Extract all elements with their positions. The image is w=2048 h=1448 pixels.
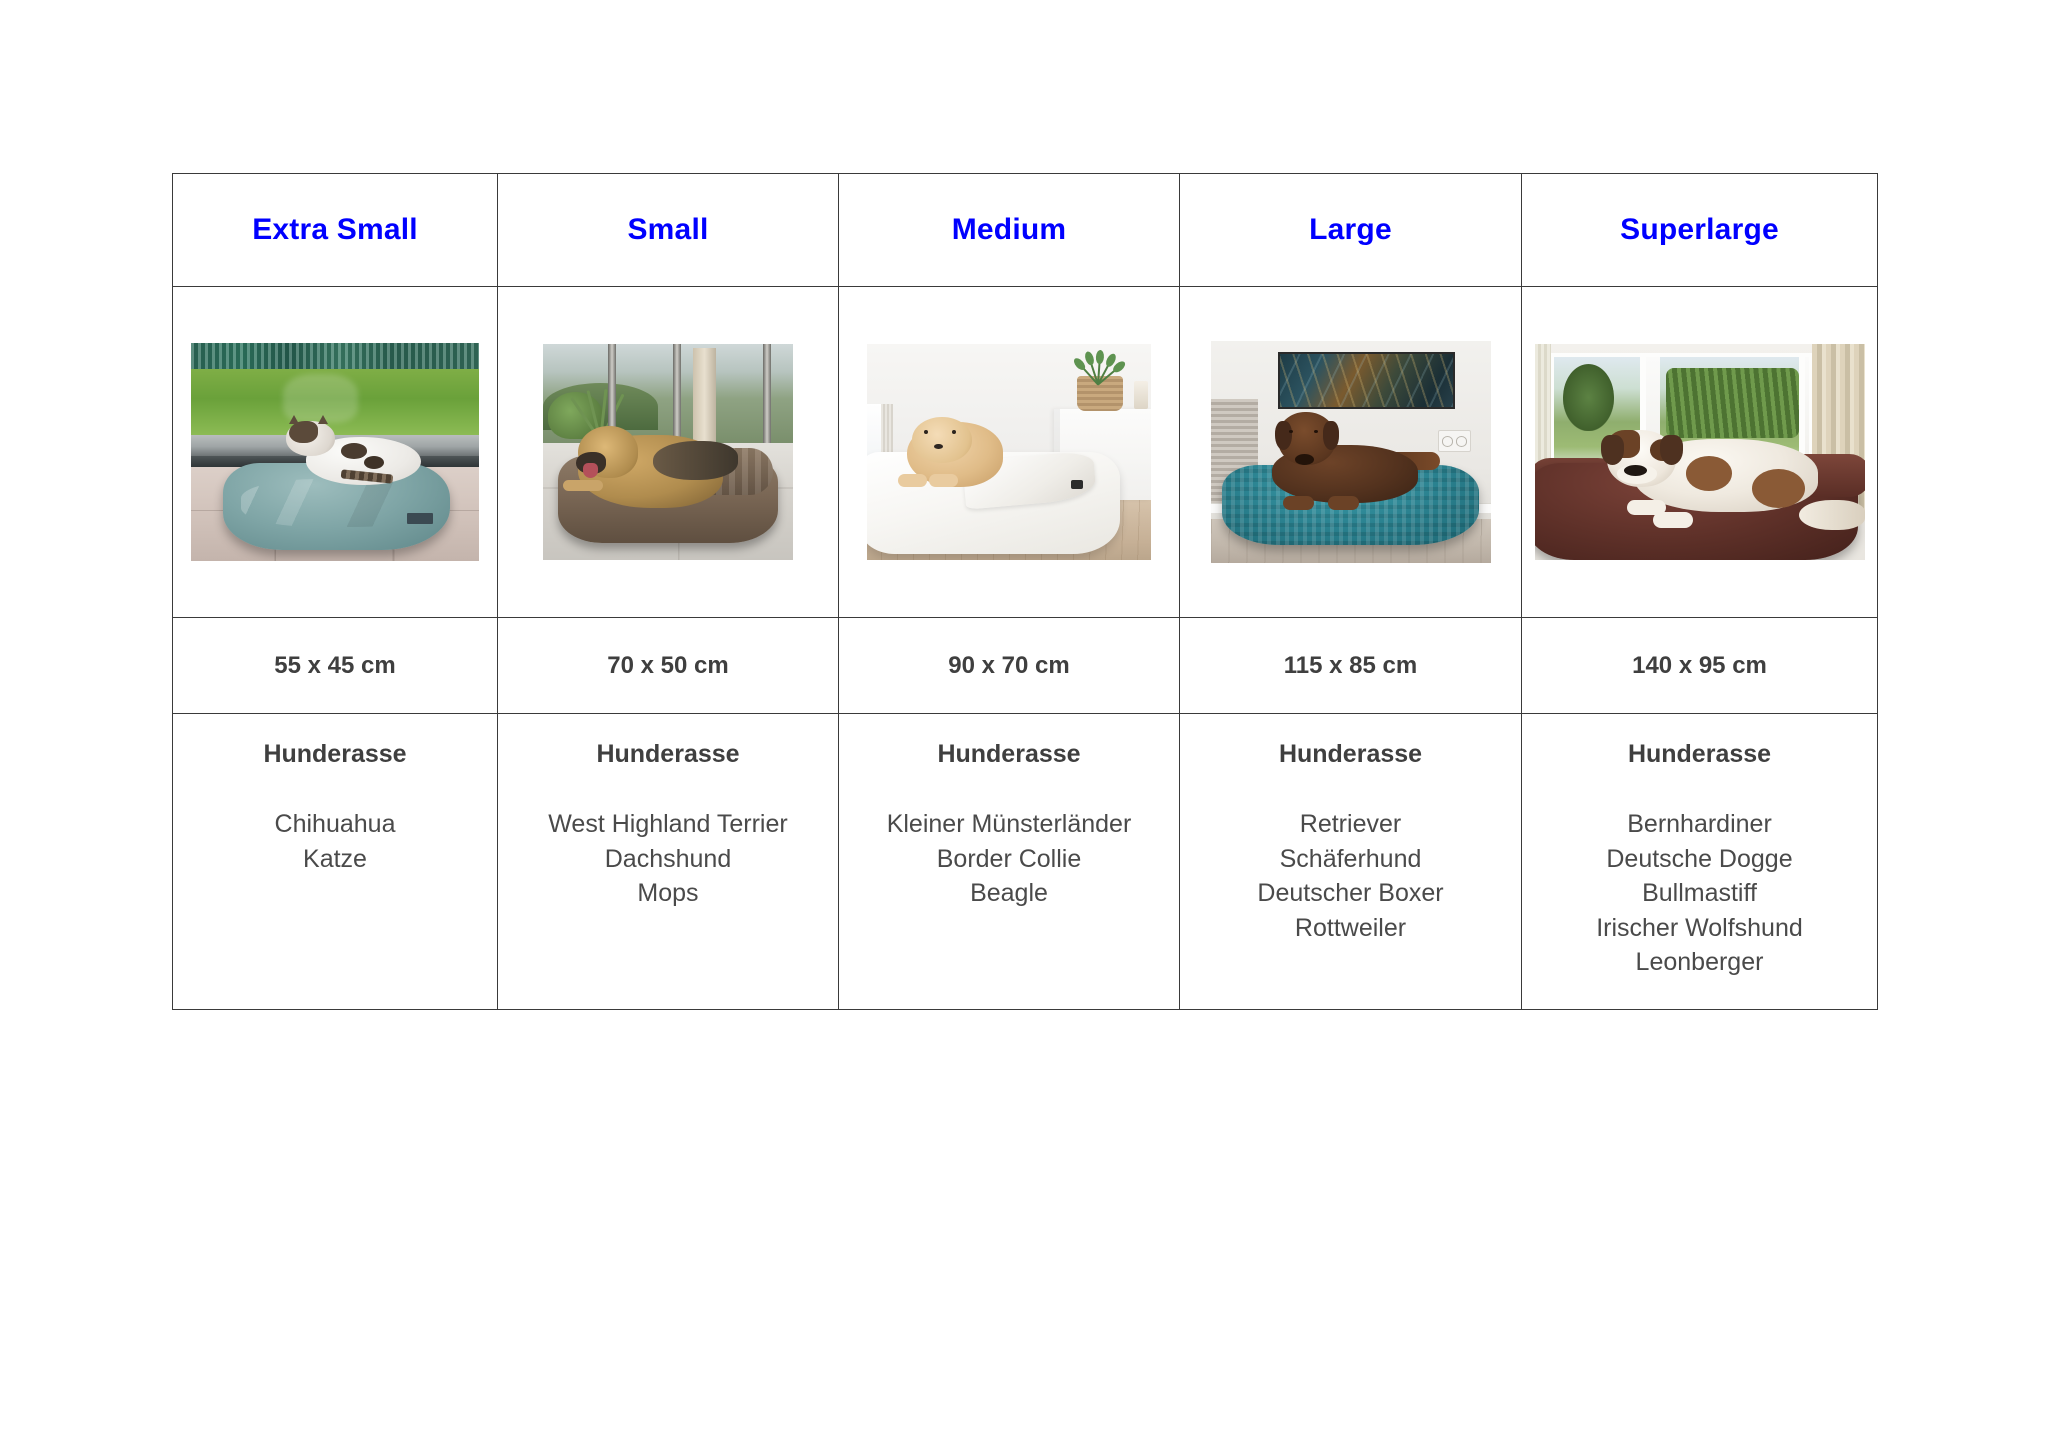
photo-cell-medium [839, 287, 1180, 618]
breed-title-superlarge: Hunderasse [1522, 740, 1877, 769]
breed-title-medium: Hunderasse [839, 740, 1179, 769]
breed-item: Leonberger [1522, 945, 1877, 980]
breed-list-small: West Highland Terrier Dachshund Mops [498, 807, 838, 911]
breed-item: Irischer Wolfshund [1522, 911, 1877, 946]
breed-list-superlarge: Bernhardiner Deutsche Dogge Bullmastiff … [1522, 807, 1877, 980]
header-label-large: Large [1180, 215, 1521, 245]
breed-cell-extra-small: Hunderasse Chihuahua Katze [173, 714, 498, 1010]
size-value-small: 70 x 50 cm [498, 652, 838, 680]
table-size-row: 55 x 45 cm 70 x 50 cm 90 x 70 cm 115 x 8… [173, 618, 1878, 714]
header-cell-superlarge: Superlarge [1522, 174, 1878, 287]
breed-item: Mops [498, 876, 838, 911]
breed-list-medium: Kleiner Münsterländer Border Collie Beag… [839, 807, 1179, 911]
breed-item: Retriever [1180, 807, 1521, 842]
size-value-extra-small: 55 x 45 cm [173, 652, 497, 680]
header-label-extra-small: Extra Small [173, 215, 497, 245]
table-breed-row: Hunderasse Chihuahua Katze Hunderasse We… [173, 714, 1878, 1010]
breed-item: Beagle [839, 876, 1179, 911]
header-cell-large: Large [1180, 174, 1522, 287]
breed-cell-medium: Hunderasse Kleiner Münsterländer Border … [839, 714, 1180, 1010]
photo-cell-superlarge [1522, 287, 1878, 618]
breed-item: Bernhardiner [1522, 807, 1877, 842]
header-label-small: Small [498, 215, 838, 245]
breed-list-large: Retriever Schäferhund Deutscher Boxer Ro… [1180, 807, 1521, 945]
photo-cell-small [498, 287, 839, 618]
breed-cell-small: Hunderasse West Highland Terrier Dachshu… [498, 714, 839, 1010]
table-header-row: Extra Small Small Medium Large Superlarg… [173, 174, 1878, 287]
breed-item: Dachshund [498, 842, 838, 877]
breed-title-small: Hunderasse [498, 740, 838, 769]
page-canvas: Extra Small Small Medium Large Superlarg… [0, 0, 2048, 1448]
breed-item: Chihuahua [173, 807, 497, 842]
size-cell-large: 115 x 85 cm [1180, 618, 1522, 714]
breed-cell-large: Hunderasse Retriever Schäferhund Deutsch… [1180, 714, 1522, 1010]
product-photo-superlarge [1535, 344, 1865, 560]
product-photo-large [1211, 341, 1491, 563]
breed-item: Deutsche Dogge [1522, 842, 1877, 877]
header-label-medium: Medium [839, 215, 1179, 245]
product-photo-small [543, 344, 793, 560]
breed-title-large: Hunderasse [1180, 740, 1521, 769]
size-cell-extra-small: 55 x 45 cm [173, 618, 498, 714]
dog-bed-size-table: Extra Small Small Medium Large Superlarg… [172, 173, 1878, 1010]
size-cell-superlarge: 140 x 95 cm [1522, 618, 1878, 714]
header-cell-medium: Medium [839, 174, 1180, 287]
header-label-superlarge: Superlarge [1522, 215, 1877, 245]
size-value-large: 115 x 85 cm [1180, 652, 1521, 680]
breed-item: West Highland Terrier [498, 807, 838, 842]
breed-item: Bullmastiff [1522, 876, 1877, 911]
breed-title-extra-small: Hunderasse [173, 740, 497, 769]
photo-cell-large [1180, 287, 1522, 618]
header-cell-extra-small: Extra Small [173, 174, 498, 287]
breed-item: Rottweiler [1180, 911, 1521, 946]
breed-item: Katze [173, 842, 497, 877]
size-cell-medium: 90 x 70 cm [839, 618, 1180, 714]
product-photo-medium [867, 344, 1151, 560]
size-value-medium: 90 x 70 cm [839, 652, 1179, 680]
breed-cell-superlarge: Hunderasse Bernhardiner Deutsche Dogge B… [1522, 714, 1878, 1010]
breed-item: Kleiner Münsterländer [839, 807, 1179, 842]
breed-item: Deutscher Boxer [1180, 876, 1521, 911]
breed-item: Border Collie [839, 842, 1179, 877]
breed-item: Schäferhund [1180, 842, 1521, 877]
product-photo-extra-small [191, 343, 479, 561]
size-value-superlarge: 140 x 95 cm [1522, 652, 1877, 680]
table-photo-row [173, 287, 1878, 618]
breed-list-extra-small: Chihuahua Katze [173, 807, 497, 876]
size-cell-small: 70 x 50 cm [498, 618, 839, 714]
photo-cell-extra-small [173, 287, 498, 618]
header-cell-small: Small [498, 174, 839, 287]
